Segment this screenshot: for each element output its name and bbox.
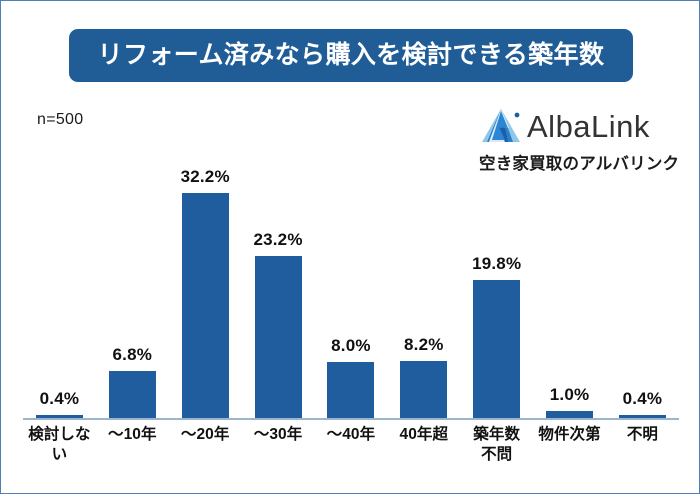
x-axis-label: 築年数不問 <box>461 425 533 465</box>
bar[interactable] <box>182 193 229 418</box>
x-axis-label: ～30年 <box>242 425 314 445</box>
bar[interactable] <box>619 415 666 418</box>
page-title: リフォーム済みなら購入を検討できる築年数 <box>98 43 605 68</box>
albalink-triangle-mark-icon <box>479 106 523 146</box>
bar-column[interactable]: 32.2% <box>169 151 241 418</box>
bar-column[interactable]: 8.0% <box>315 151 387 418</box>
bar[interactable] <box>255 256 302 418</box>
x-axis-label: ～10年 <box>96 425 168 445</box>
bar-value-label: 0.4% <box>23 389 95 409</box>
bar-column[interactable]: 23.2% <box>242 151 314 418</box>
bar-value-label: 8.0% <box>315 336 387 356</box>
bar-column[interactable]: 19.8% <box>461 151 533 418</box>
bar-value-label: 6.8% <box>96 345 168 365</box>
bar-value-label: 23.2% <box>242 230 314 250</box>
bar-column[interactable]: 1.0% <box>534 151 606 418</box>
x-axis-line <box>23 418 679 420</box>
bar-series: 0.4%6.8%32.2%23.2%8.0%8.2%19.8%1.0%0.4% <box>23 151 679 418</box>
bar-value-label: 0.4% <box>606 389 678 409</box>
bar-value-label: 8.2% <box>388 335 460 355</box>
bar-value-label: 1.0% <box>534 385 606 405</box>
logo-row: AlbaLink <box>479 105 677 147</box>
x-axis-label: ～40年 <box>315 425 387 445</box>
bar[interactable] <box>546 411 593 418</box>
bar-column[interactable]: 8.2% <box>388 151 460 418</box>
x-axis-label: 検討しない <box>23 425 95 465</box>
bar[interactable] <box>109 371 156 418</box>
bar-value-label: 32.2% <box>169 167 241 187</box>
x-axis-category-labels: 検討しない～10年～20年～30年～40年40年超築年数不問物件次第不明 <box>23 425 679 465</box>
bar[interactable] <box>36 415 83 418</box>
bar[interactable] <box>473 280 520 418</box>
x-axis-label: 40年超 <box>388 425 460 445</box>
x-axis-label: 物件次第 <box>534 425 606 445</box>
bar-value-label: 19.8% <box>461 254 533 274</box>
x-axis-label: ～20年 <box>169 425 241 445</box>
bar[interactable] <box>327 362 374 418</box>
bar-column[interactable]: 0.4% <box>606 151 678 418</box>
sample-size-label: n=500 <box>37 111 83 129</box>
x-axis-label: 不明 <box>606 425 678 445</box>
infographic-root: リフォーム済みなら購入を検討できる築年数 n=500 AlbaLink 空き家買… <box>0 0 700 494</box>
bar[interactable] <box>400 361 447 418</box>
bar-column[interactable]: 0.4% <box>23 151 95 418</box>
title-banner: リフォーム済みなら購入を検討できる築年数 <box>69 29 633 82</box>
bar-column[interactable]: 6.8% <box>96 151 168 418</box>
logo-wordmark: AlbaLink <box>527 111 650 142</box>
